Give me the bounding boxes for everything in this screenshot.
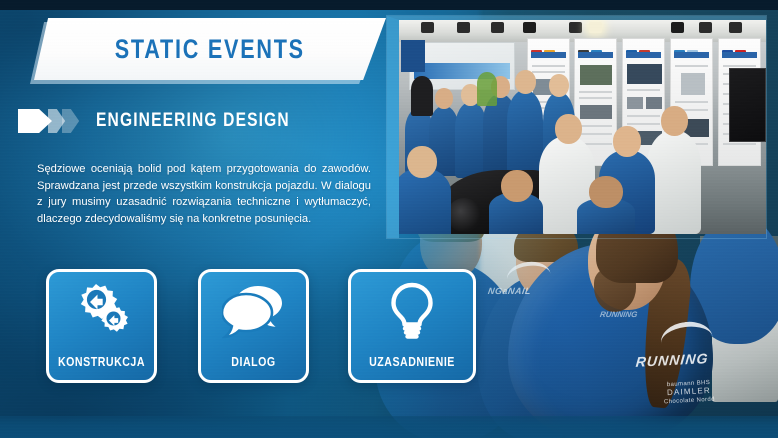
page-title: STATIC EVENTS <box>115 34 305 65</box>
speech-bubbles-icon <box>201 282 306 344</box>
card-dialog[interactable]: DIALOG <box>198 269 309 383</box>
letterbox-top-bar <box>0 0 778 10</box>
body-paragraph: Sędziowe oceniają bolid pod kątem przygo… <box>37 161 371 227</box>
card-uzasadnienie[interactable]: UZASADNIENIE <box>348 269 476 383</box>
chevron-arrow-tertiary <box>62 109 84 133</box>
letterbox-bottom-bar <box>0 416 778 438</box>
inset-photo-container <box>387 16 766 238</box>
section-subtitle: ENGINEERING DESIGN <box>96 110 290 132</box>
card-konstrukcja[interactable]: KONSTRUKCJA <box>46 269 157 383</box>
title-banner: STATIC EVENTS <box>34 18 386 80</box>
card-label-konstrukcja: KONSTRUKCJA <box>57 355 146 369</box>
subtitle-row: ENGINEERING DESIGN <box>18 108 332 134</box>
inset-photo-frame <box>387 16 766 238</box>
lightbulb-icon <box>351 282 473 344</box>
card-label-dialog: DIALOG <box>209 355 298 369</box>
slide-root: NGaNAIL RUNNING RUNNING baumann BHS DAIM… <box>0 0 778 438</box>
card-label-uzasadnienie: UZASADNIENIE <box>360 355 464 369</box>
feature-card-group: KONSTRUKCJA DIALOG <box>46 269 476 384</box>
chevron-arrow-icon <box>18 109 84 133</box>
chevron-arrow-primary <box>18 109 52 133</box>
gears-icon <box>49 282 154 344</box>
